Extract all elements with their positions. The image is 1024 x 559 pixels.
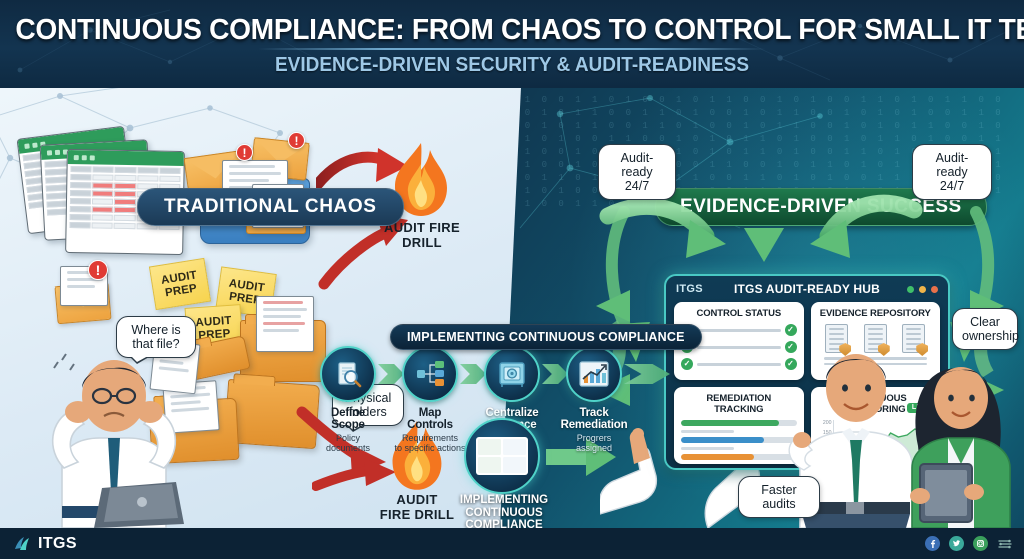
sub-line-1: Policy [336,433,360,443]
sticky-note-1: AUDIT PREP [149,258,211,310]
flow-chevron-2 [460,364,486,384]
speech-bubble-faster-audits: Faster audits [738,476,820,518]
footer-bar: ITGS [0,528,1024,559]
hub-title-bar: ITGS ITGS AUDIT-READY HUB [666,276,948,302]
sub-line-1: Progrers [577,433,612,443]
flow-step-title: Define Scope [320,407,376,431]
mini-dashboard-icon [464,418,540,494]
alert-badge-3: ! [88,260,108,280]
itgs-logo[interactable]: ITGS [12,534,77,554]
page-subtitle: EVIDENCE-DRIVEN SECURITY & AUDIT-READINE… [26,54,999,77]
speech-bubble-clear-ownership: Clear ownership [952,308,1018,350]
window-dot-green[interactable] [907,286,914,293]
bubble-line-1: Audit-ready [936,151,969,179]
flow-step-define-scope[interactable]: Define Scope Policy documents [320,346,376,453]
header-banner: CONTINUOUS COMPLIANCE: FROM CHAOS TO CON… [0,0,1024,88]
window-controls[interactable] [907,286,938,293]
bar-chart-trend-icon [566,346,622,402]
flow-section-badge: IMPLEMENTING CONTINUOUS COMPLIANCE [390,324,702,350]
flow-step-subtitle: Progrers assigned [552,433,636,453]
status-line [697,329,781,332]
folder-document-1 [256,296,314,352]
speech-bubble-audit-ready-left: Audit-ready 24/7 [598,144,676,200]
bubble-line-1: Clear [970,315,1000,329]
title-line-1: Map [419,407,441,419]
instagram-icon[interactable] [973,536,988,551]
itgs-mark-icon [12,534,32,554]
infographic-root: CONTINUOUS COMPLIANCE: FROM CHAOS TO CON… [0,0,1024,559]
card-title: CONTROL STATUS [681,308,797,319]
sub-line-2: documents [326,443,370,453]
sliders-icon[interactable] [997,536,1012,551]
itgs-logo-text: ITGS [38,535,77,553]
bubble-line-1: Where is [131,323,180,337]
card-title: EVIDENCE REPOSITORY [818,308,934,319]
title-line-1: Define [331,407,365,419]
placeholder-line [681,447,734,450]
title-line-2: Scope [331,419,365,431]
social-links[interactable] [925,536,1012,551]
speech-bubble-audit-ready-right: Audit-ready 24/7 [912,144,992,200]
placeholder-line [681,430,734,433]
flow-nodes-icon [402,346,458,402]
twitter-icon[interactable] [949,536,964,551]
label-line-2: CONTINUOUS [465,507,542,519]
sub-line-2: to specific actions [394,443,465,453]
speech-bubble-where-is-that-file: Where is that file? [116,316,196,358]
bubble-line-1: Audit-ready [621,151,654,179]
magnifier-document-icon [320,346,376,402]
fire-label-line-1: AUDIT [396,492,437,507]
hub-title-label: ITGS AUDIT-READY HUB [666,282,948,296]
flow-step-title: Map Controls [402,407,458,431]
flow-chevron-4 [624,364,670,384]
bottom-flow-label: IMPLEMENTING CONTINUOUS COMPLIANCE [458,494,550,528]
title-line-2: Controls [407,419,453,431]
flow-chevron-1 [378,364,404,384]
facebook-icon[interactable] [925,536,940,551]
content-stage: ! ! AUDIT FIRE DRILL AUD [0,88,1024,528]
sub-line-2: assigned [576,443,612,453]
flow-chevron-3 [542,364,568,384]
sub-line-1: Requirements [402,433,458,443]
flow-step-map-controls[interactable]: Map Controls Requirements to specific ac… [402,346,458,453]
female-professional-illustration [900,346,1024,528]
flow-step-title: Track Remediation [548,407,640,431]
status-line [697,363,781,366]
window-dot-red[interactable] [931,286,938,293]
label-line-1: IMPLEMENTING [460,494,548,506]
page-title: CONTINUOUS COMPLIANCE: FROM CHAOS TO CON… [15,14,1008,47]
check-icon: ✓ [681,358,693,370]
bubble-line-1: Faster audits [761,483,796,511]
bubble-line-2: that file? [132,337,179,351]
status-line [697,346,781,349]
flow-step-subtitle: Policy documents [320,433,376,453]
bubble-line-2: 24/7 [625,179,649,193]
label-line-3: COMPLIANCE [465,519,542,528]
alert-badge-2: ! [288,132,305,149]
title-line-2: Remediation [561,419,628,431]
title-line-1: Track [579,407,608,419]
bubble-line-2: 24/7 [940,179,964,193]
fire-label-line-2: FIRE DRILL [380,507,455,522]
window-dot-amber[interactable] [919,286,926,293]
bubble-line-2: ownership [962,329,1019,343]
alert-badge-1: ! [236,144,253,161]
check-icon: ✓ [785,324,797,336]
safe-vault-icon [484,346,540,402]
flow-step-track-remediation[interactable]: Track Remediation Progrers assigned [566,346,622,453]
section-badge-traditional-chaos: TRADITIONAL CHAOS [137,188,404,226]
header-divider [258,48,766,50]
audit-fire-drill-label-bottom: AUDIT FIRE DRILL [362,492,472,522]
stressed-employee-illustration [24,338,204,528]
title-line-1: Centralize [486,407,539,419]
